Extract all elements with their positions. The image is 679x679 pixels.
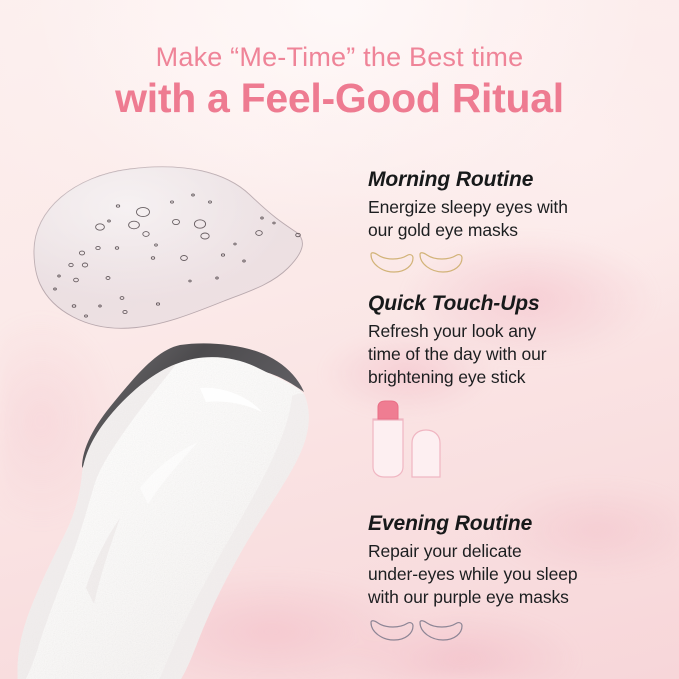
- headline-line-1: Make “Me-Time” the Best time: [0, 44, 679, 71]
- gold-eye-mask-left: [371, 253, 413, 272]
- quick-touch-ups-body-line-2: time of the day with our: [368, 343, 668, 366]
- gel-swatch-image: [12, 158, 342, 343]
- product-lifestyle-infographic: Make “Me-Time” the Best time with a Feel…: [0, 0, 679, 679]
- eye-stick-cap: [412, 430, 440, 477]
- quick-touch-ups-body-line-3: brightening eye stick: [368, 366, 668, 389]
- eye-stick-tip: [378, 401, 398, 419]
- eye-stick-icon-row: [368, 399, 668, 481]
- quick-touch-ups-body: Refresh your look any time of the day wi…: [368, 320, 668, 390]
- cream-swatch-image: [0, 338, 380, 679]
- morning-routine-body: Energize sleepy eyes with our gold eye m…: [368, 196, 668, 243]
- purple-eye-masks-icon-row: [368, 615, 668, 649]
- evening-routine-body-line-1: Repair your delicate: [368, 540, 668, 563]
- purple-eye-mask-right: [420, 620, 462, 639]
- morning-routine-title: Morning Routine: [368, 168, 668, 193]
- eye-stick-icon: [368, 399, 458, 481]
- feature-block-evening-routine: Evening Routine Repair your delicate und…: [368, 512, 668, 649]
- purple-eye-masks-icon: [368, 615, 478, 647]
- evening-routine-body-line-3: with our purple eye masks: [368, 586, 668, 609]
- eye-stick-tube: [373, 419, 403, 477]
- evening-routine-title: Evening Routine: [368, 512, 668, 537]
- quick-touch-ups-body-line-1: Refresh your look any: [368, 320, 668, 343]
- morning-routine-body-line-1: Energize sleepy eyes with: [368, 196, 668, 219]
- morning-routine-body-line-2: our gold eye masks: [368, 219, 668, 242]
- evening-routine-body: Repair your delicate under-eyes while yo…: [368, 540, 668, 610]
- feature-block-morning-routine: Morning Routine Energize sleepy eyes wit…: [368, 168, 668, 281]
- gel-swatch-svg: [12, 158, 342, 343]
- cream-swatch-svg: [0, 338, 380, 679]
- gel-blob-sheen: [34, 167, 302, 328]
- evening-routine-body-line-2: under-eyes while you sleep: [368, 563, 668, 586]
- gold-eye-masks-icon-row: [368, 247, 668, 281]
- gold-eye-mask-right: [420, 253, 462, 272]
- headline: Make “Me-Time” the Best time with a Feel…: [0, 44, 679, 119]
- cream-body: [18, 357, 309, 679]
- quick-touch-ups-title: Quick Touch-Ups: [368, 292, 668, 317]
- feature-block-quick-touch-ups: Quick Touch-Ups Refresh your look any ti…: [368, 292, 668, 481]
- purple-eye-mask-left: [371, 620, 413, 639]
- headline-line-2: with a Feel-Good Ritual: [0, 78, 679, 119]
- gold-eye-masks-icon: [368, 247, 478, 279]
